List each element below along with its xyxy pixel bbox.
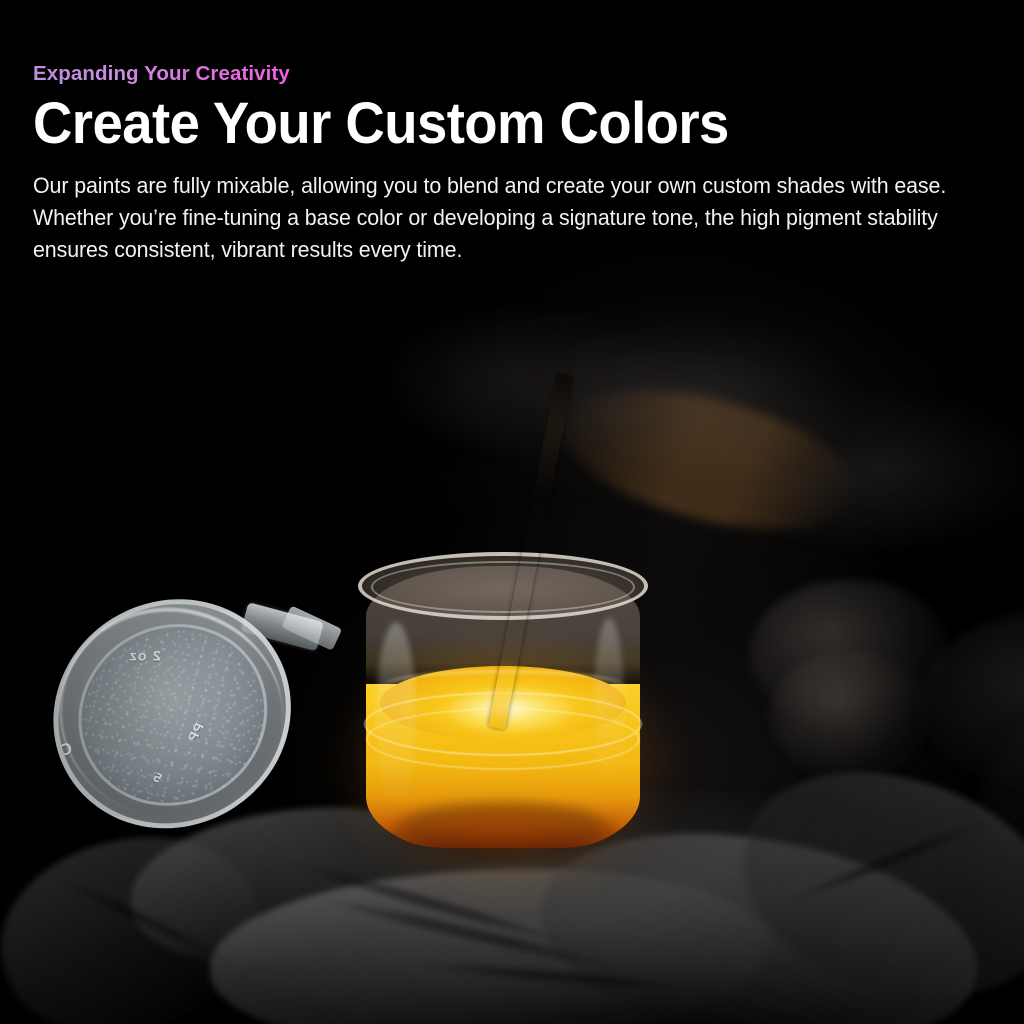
text-block: Expanding Your Creativity Create Your Cu…	[33, 62, 993, 266]
cup-wall-highlight	[376, 622, 416, 812]
body-paragraph: Our paints are fully mixable, allowing y…	[33, 170, 974, 265]
eyebrow-label: Expanding Your Creativity	[33, 62, 290, 87]
cup-base-shadow	[388, 802, 618, 862]
page-title: Create Your Custom Colors	[33, 93, 935, 154]
cup-wall-highlight	[594, 618, 624, 788]
cup-lid: CONTAINER 2 oz PP 5	[42, 581, 332, 859]
cup-rim-inner	[371, 561, 635, 613]
promo-banner: CONTAINER 2 oz PP 5 Expanding Your Creat…	[0, 0, 1024, 1024]
